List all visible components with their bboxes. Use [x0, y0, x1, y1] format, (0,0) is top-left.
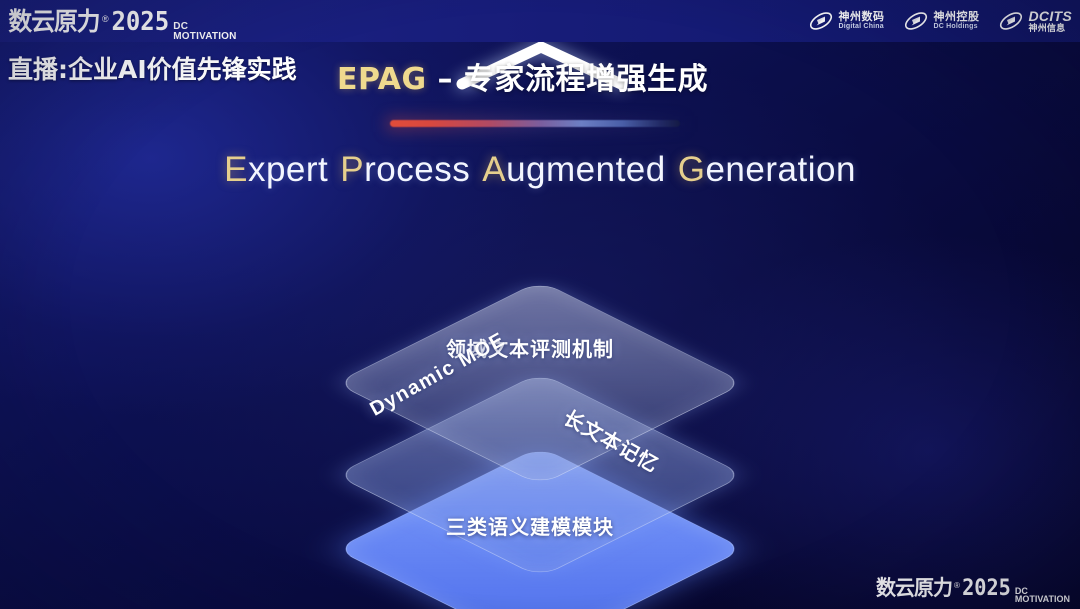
headline-cap-g: G [678, 150, 706, 189]
watermark-year: 2025 [962, 576, 1011, 601]
brand-logo-registered: ® [102, 14, 109, 24]
gradient-divider [390, 120, 680, 127]
partner-name-cn: 神州控股 [934, 12, 980, 24]
footer-watermark: 数云原力®2025DCMOTIVATION [874, 572, 1070, 605]
english-headline: ExpertProcessAugmentedGeneration [0, 150, 1080, 190]
partner-logo-text: DCITS 神州信息 [1029, 9, 1073, 33]
header-band: 数云原力®2025DCMOTIVATION 神州数码 Digital China [0, 0, 1080, 42]
diagram-layer-top [290, 225, 790, 515]
partner-logo-digital-china: 神州数码 Digital China [808, 9, 885, 33]
watermark-registered: ® [954, 581, 960, 590]
live-broadcast-title: 直播:企业AI价值先锋实践 [8, 50, 297, 86]
brand-logo-year: 2025 [111, 7, 169, 37]
watermark-cn: 数云原力 [876, 572, 952, 602]
brand-logo-motivation: MOTIVATION [173, 32, 236, 42]
swirl-logo-icon [808, 9, 834, 33]
page-title-abbr: EPAG [337, 62, 427, 97]
layer-label-bottom: 三类语义建模模块 [446, 511, 614, 540]
partner-name-cn: DCITS [1029, 9, 1073, 24]
brand-logo: 数云原力®2025DCMOTIVATION [6, 2, 237, 36]
partner-name-en: Digital China [839, 23, 885, 30]
headline-rest-process: rocess [364, 150, 470, 189]
swirl-logo-icon [903, 9, 929, 33]
partner-logo-text: 神州控股 DC Holdings [934, 12, 980, 31]
partner-logos: 神州数码 Digital China 神州控股 DC Holdings [808, 5, 1073, 37]
partner-logo-dcits: DCITS 神州信息 [998, 9, 1073, 33]
watermark-dc-block: DCMOTIVATION [1015, 587, 1070, 604]
headline-rest-expert: xpert [248, 150, 328, 189]
page-title-cn: – 专家流程增强生成 [427, 62, 708, 97]
partner-name-en: 神州信息 [1029, 24, 1073, 33]
watermark-motivation: MOTIVATION [1015, 595, 1070, 604]
swirl-logo-icon [998, 9, 1024, 33]
presentation-slide: 数云原力®2025DCMOTIVATION 神州数码 Digital China [0, 0, 1080, 609]
headline-rest-generation: eneration [705, 150, 855, 189]
brand-logo-dc-block: DCMOTIVATION [173, 22, 236, 41]
headline-rest-augmented: ugmented [506, 150, 666, 189]
partner-name-cn: 神州数码 [839, 12, 885, 24]
headline-cap-e: E [224, 150, 248, 189]
headline-cap-a: A [482, 150, 506, 189]
headline-cap-p: P [340, 150, 364, 189]
partner-logo-text: 神州数码 Digital China [839, 12, 885, 31]
partner-name-en: DC Holdings [934, 23, 980, 30]
page-title: EPAG – 专家流程增强生成 [337, 54, 708, 98]
diamond-plate-top [335, 280, 745, 485]
brand-logo-cn: 数云原力 [8, 2, 99, 38]
partner-logo-dc-holdings: 神州控股 DC Holdings [903, 9, 980, 33]
